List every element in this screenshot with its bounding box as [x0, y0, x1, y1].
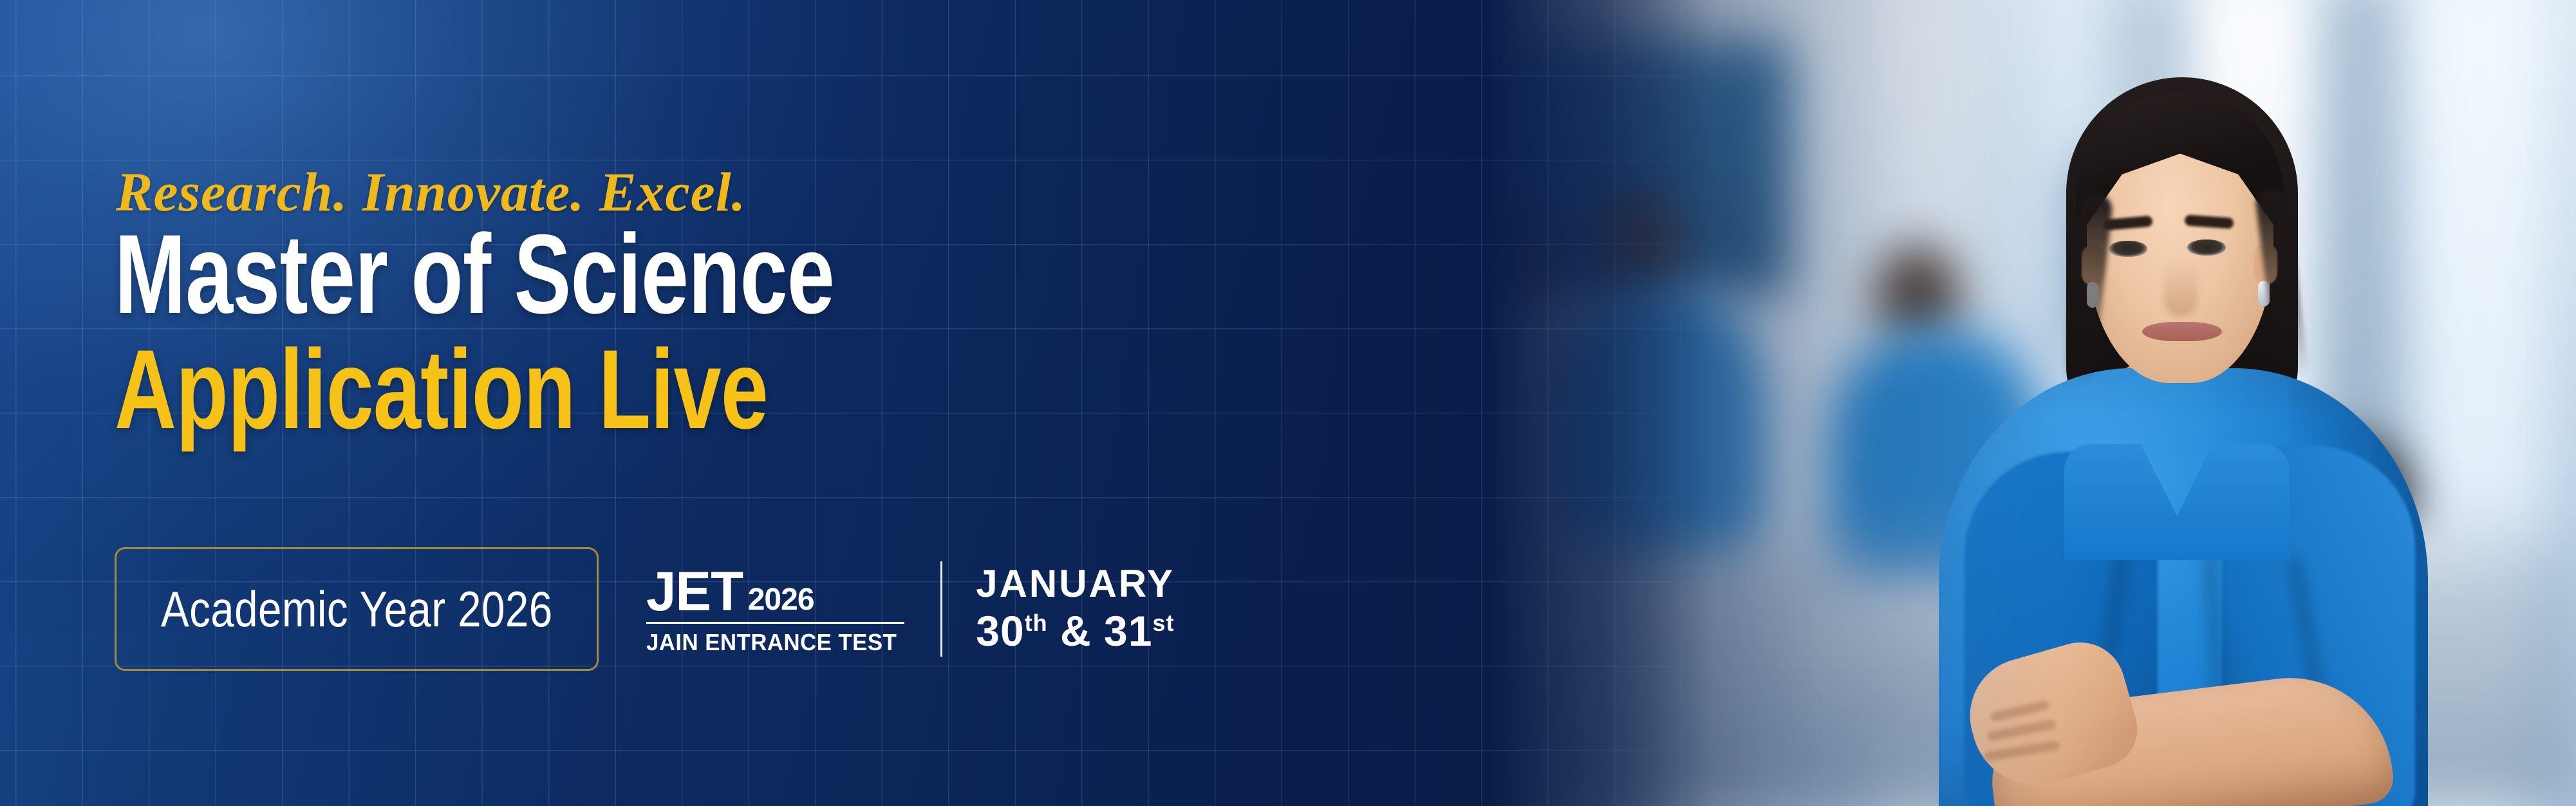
headline: Master of Science Application Live — [115, 219, 1061, 446]
headline-line-1: Master of Science — [115, 219, 834, 330]
foreground-student — [1894, 0, 2525, 806]
vertical-divider — [940, 561, 942, 657]
headline-line-2: Application Live — [115, 334, 834, 445]
academic-year-label: Academic Year 2026 — [161, 580, 553, 639]
academic-year-badge: Academic Year 2026 — [115, 547, 599, 671]
exam-day-first-suffix: th — [1025, 610, 1048, 636]
exam-day-separator: & — [1060, 607, 1092, 655]
student-eye-left — [2109, 241, 2147, 257]
exam-day-second: 31 — [1104, 607, 1152, 655]
exam-day-second-suffix: st — [1152, 610, 1174, 636]
jet-year: 2026 — [748, 585, 814, 617]
student-eye-right — [2187, 239, 2226, 256]
jet-wordmark: JET — [646, 567, 743, 617]
msc-admission-banner: Research. Innovate. Excel. Master of Sci… — [0, 0, 2576, 806]
student-mouth — [2142, 322, 2222, 341]
exam-day-first: 30 — [976, 607, 1024, 655]
exam-month: JANUARY — [976, 563, 1175, 604]
jet-logo: JET 2026 JAIN ENTRANCE TEST — [646, 562, 904, 655]
jet-subtitle: JAIN ENTRANCE TEST — [646, 629, 897, 656]
exam-days: 30th & 31st — [976, 608, 1175, 655]
footer-row: Academic Year 2026 JET 2026 JAIN ENTRANC… — [115, 546, 1175, 672]
exam-dates: JANUARY 30th & 31st — [976, 563, 1175, 655]
student-nose — [2164, 260, 2198, 317]
student-photo — [1411, 0, 2576, 806]
jet-logo-top: JET 2026 — [646, 567, 814, 617]
